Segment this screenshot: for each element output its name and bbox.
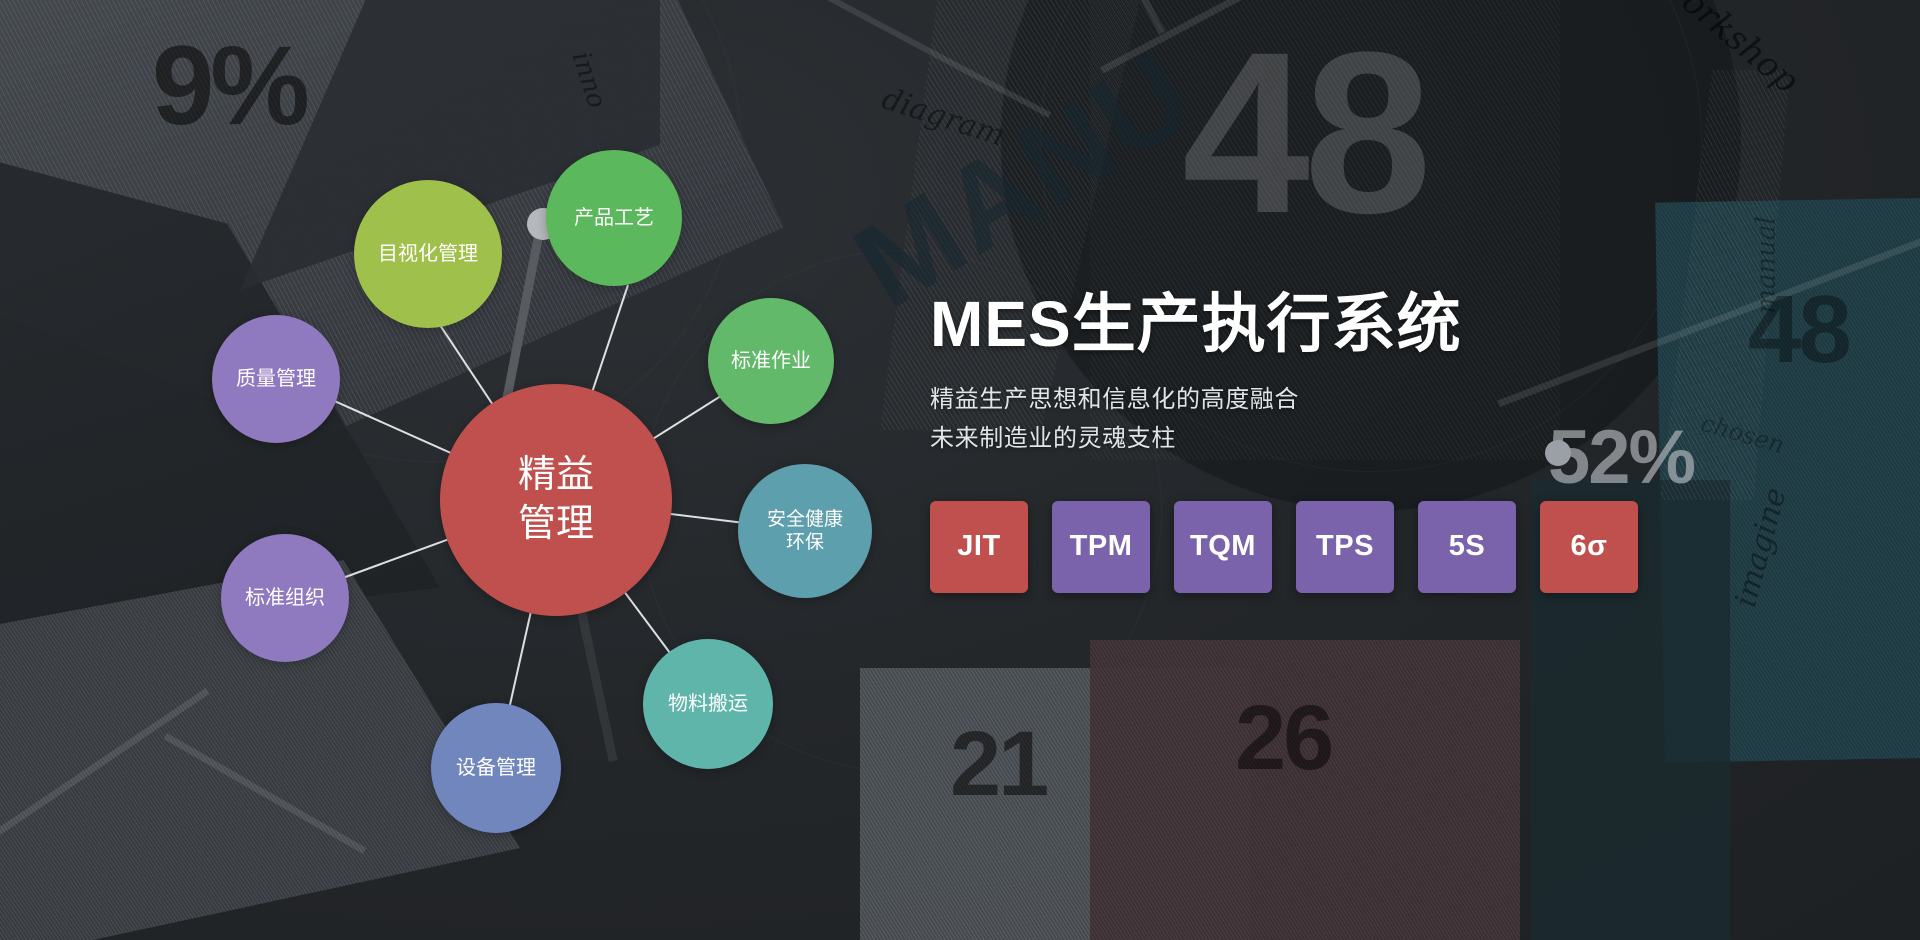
badge-label: TPS [1316,530,1374,563]
bubble-label: 标准作业 [731,349,811,373]
bubble-label-line2: 环保 [767,531,843,554]
badge-label: 5S [1449,530,1485,563]
hero-subtitle: 精益生产思想和信息化的高度融合 未来制造业的灵魂支柱 [930,381,1890,459]
hero-banner: MANU diagram inno workshop imagine manua… [0,0,1920,940]
background-number-48: 48 [1182,18,1426,248]
bubble-visual-management[interactable]: 目视化管理 [354,180,502,328]
subtitle-line-1: 精益生产思想和信息化的高度融合 [930,381,1890,420]
bubble-standard-work[interactable]: 标准作业 [708,298,834,424]
hub-label-line2: 管理 [518,500,594,549]
badge-label: 6σ [1571,530,1608,563]
bubble-label: 质量管理 [236,367,316,391]
badge-label: JIT [957,530,1000,563]
page-title: MES生产执行系统 [930,290,1890,359]
bubble-label: 设备管理 [456,756,536,780]
badge-label: TQM [1190,530,1256,563]
badge-5s[interactable]: 5S [1418,501,1516,593]
bubble-equipment-management[interactable]: 设备管理 [431,703,561,833]
bubble-label: 物料搬运 [668,692,748,716]
bubble-hub-lean-management[interactable]: 精益 管理 [440,384,672,616]
background-number-26: 26 [1235,692,1331,784]
hub-label-line1: 精益 [518,451,594,500]
background-hatch-panel-26 [1090,640,1520,940]
badge-label: TPM [1070,530,1133,563]
bubble-material-handling[interactable]: 物料搬运 [643,639,773,769]
badge-tpm[interactable]: TPM [1052,501,1150,593]
background-number-21: 21 [950,718,1046,810]
badge-tps[interactable]: TPS [1296,501,1394,593]
methodology-badge-row: JIT TPM TQM TPS 5S 6σ [930,501,1890,593]
bubble-label: 标准组织 [245,586,325,610]
bubble-label: 安全健康 [767,508,843,531]
bubble-label: 目视化管理 [378,242,478,266]
bubble-label: 产品工艺 [574,206,654,230]
badge-tqm[interactable]: TQM [1174,501,1272,593]
lean-management-bubble-diagram: 精益 管理 目视化管理 产品工艺 标准作业 质量管理 安全健康 环保 [0,0,960,940]
bubble-safety-health-environment[interactable]: 安全健康 环保 [738,464,872,598]
badge-jit[interactable]: JIT [930,501,1028,593]
badge-6sigma[interactable]: 6σ [1540,501,1638,593]
subtitle-line-2: 未来制造业的灵魂支柱 [930,420,1890,459]
bubble-quality-management[interactable]: 质量管理 [212,315,340,443]
hero-content: MES生产执行系统 精益生产思想和信息化的高度融合 未来制造业的灵魂支柱 JIT… [930,290,1890,593]
bubble-product-process[interactable]: 产品工艺 [546,150,682,286]
bubble-standard-organization[interactable]: 标准组织 [221,534,349,662]
